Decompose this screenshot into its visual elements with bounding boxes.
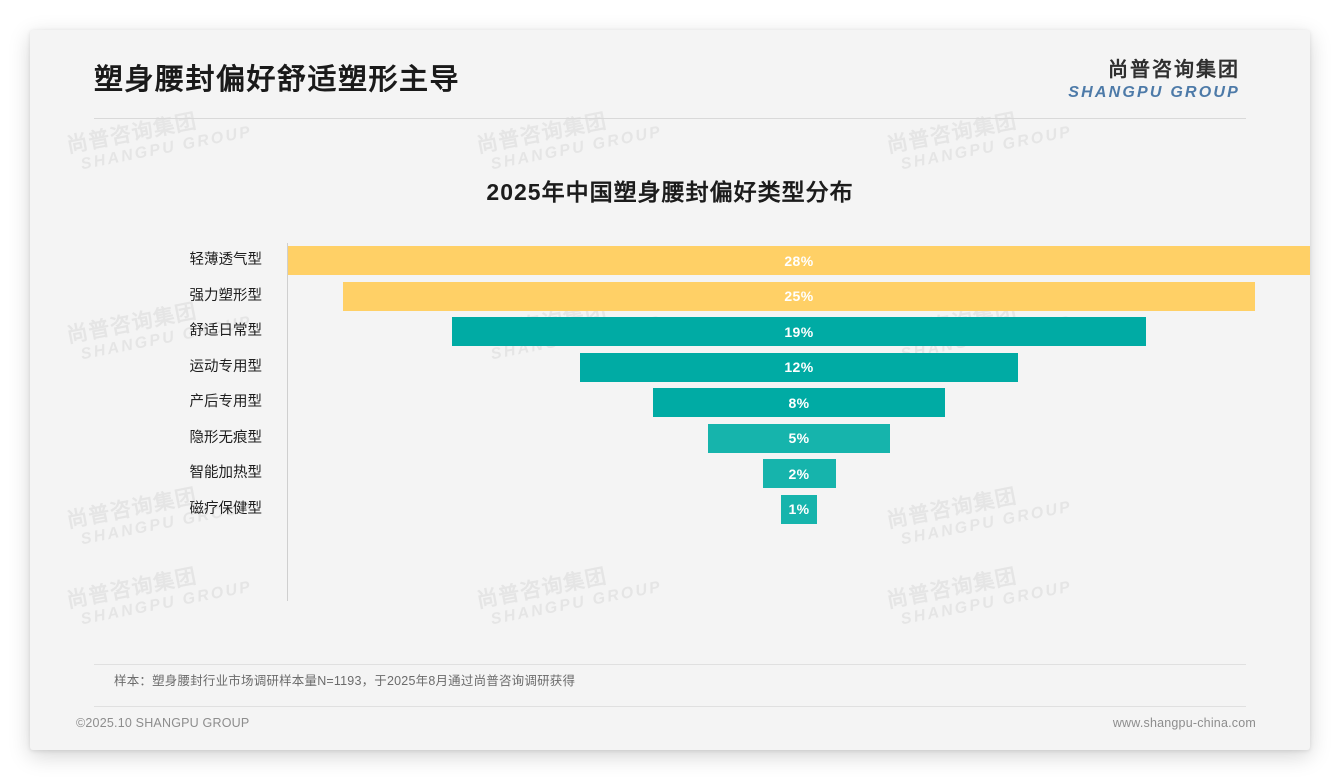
category-label: 运动专用型 — [106, 350, 276, 386]
bar-track: 5% — [288, 421, 1310, 457]
bar-track: 1% — [288, 492, 1310, 528]
category-label: 强力塑形型 — [106, 279, 276, 315]
brand-name-en: SHANGPU GROUP — [1068, 83, 1240, 103]
bar-value-label: 5% — [788, 430, 809, 446]
slide-header: 塑身腰封偏好舒适塑形主导 尚普咨询集团 SHANGPU GROUP — [30, 30, 1310, 122]
chart-title: 2025年中国塑身腰封偏好类型分布 — [30, 173, 1310, 207]
funnel-bar[interactable]: 12% — [580, 353, 1018, 382]
source-note: 样本：塑身腰封行业市场调研样本量N=1193，于2025年8月通过尚普咨询调研获… — [114, 670, 575, 689]
funnel-row: 轻薄透气型28% — [30, 243, 1310, 279]
funnel-row: 磁疗保健型1% — [30, 492, 1310, 528]
website-url[interactable]: www.shangpu-china.com — [1113, 716, 1256, 730]
funnel-bar[interactable]: 28% — [288, 246, 1310, 275]
funnel-row: 隐形无痕型5% — [30, 421, 1310, 457]
bar-value-label: 12% — [784, 359, 813, 375]
source-divider — [94, 664, 1246, 665]
page-title: 塑身腰封偏好舒适塑形主导 — [94, 56, 460, 98]
funnel-bar[interactable]: 19% — [452, 317, 1146, 346]
funnel-row: 运动专用型12% — [30, 350, 1310, 386]
header-divider — [94, 118, 1246, 119]
funnel-chart: 轻薄透气型28%强力塑形型25%舒适日常型19%运动专用型12%产后专用型8%隐… — [30, 243, 1310, 615]
chart-area: 2025年中国塑身腰封偏好类型分布 轻薄透气型28%强力塑形型25%舒适日常型1… — [30, 130, 1310, 640]
funnel-row: 强力塑形型25% — [30, 279, 1310, 315]
funnel-row: 舒适日常型19% — [30, 314, 1310, 350]
funnel-bar[interactable]: 2% — [763, 459, 836, 488]
bar-value-label: 28% — [784, 253, 813, 269]
funnel-bar[interactable]: 25% — [343, 282, 1256, 311]
funnel-bar[interactable]: 8% — [653, 388, 945, 417]
bar-track: 2% — [288, 456, 1310, 492]
brand-logo: 尚普咨询集团 SHANGPU GROUP — [1068, 58, 1240, 103]
category-label: 智能加热型 — [106, 456, 276, 492]
brand-name-cn: 尚普咨询集团 — [1068, 58, 1240, 83]
category-label: 产后专用型 — [106, 385, 276, 421]
bar-value-label: 1% — [788, 501, 809, 517]
footer-divider — [94, 706, 1246, 707]
bar-track: 12% — [288, 350, 1310, 386]
category-label: 隐形无痕型 — [106, 421, 276, 457]
category-label: 舒适日常型 — [106, 314, 276, 350]
bar-track: 25% — [288, 279, 1310, 315]
bar-track: 8% — [288, 385, 1310, 421]
category-label: 磁疗保健型 — [106, 492, 276, 528]
slide-card: 尚普咨询集团SHANGPU GROUP尚普咨询集团SHANGPU GROUP尚普… — [30, 30, 1310, 750]
bar-track: 28% — [288, 243, 1310, 279]
funnel-row: 产后专用型8% — [30, 385, 1310, 421]
bar-value-label: 2% — [788, 466, 809, 482]
funnel-bar[interactable]: 1% — [781, 495, 818, 524]
bar-value-label: 19% — [784, 324, 813, 340]
copyright-text: ©2025.10 SHANGPU GROUP — [76, 716, 249, 730]
bar-value-label: 25% — [784, 288, 813, 304]
category-label: 轻薄透气型 — [106, 243, 276, 279]
funnel-bar[interactable]: 5% — [708, 424, 891, 453]
bar-value-label: 8% — [788, 395, 809, 411]
bar-track: 19% — [288, 314, 1310, 350]
funnel-row: 智能加热型2% — [30, 456, 1310, 492]
